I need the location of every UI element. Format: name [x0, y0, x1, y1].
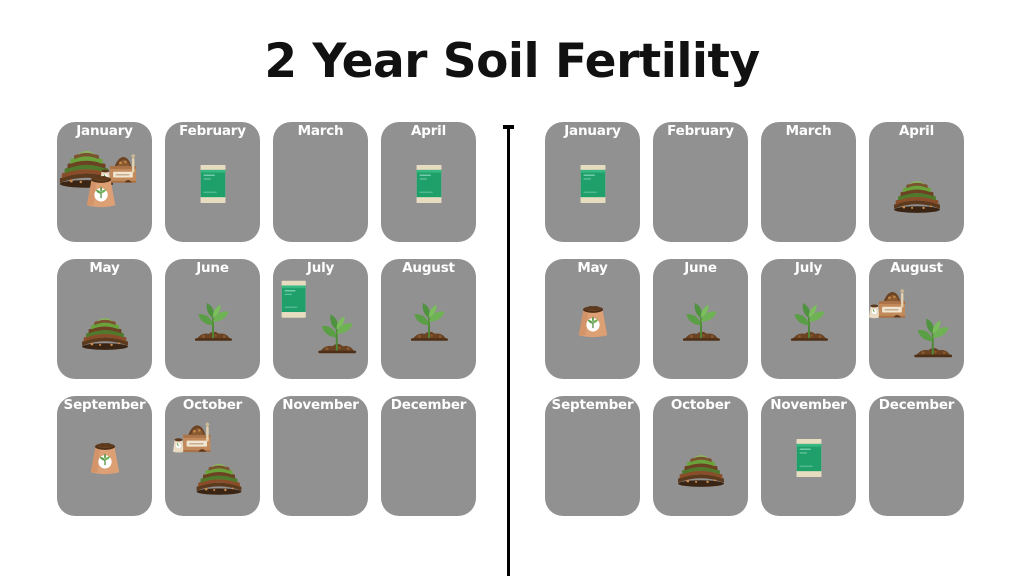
month-label: February [179, 123, 246, 139]
month-card-year-2-may[interactable]: May [545, 259, 640, 379]
month-card-year-1-march[interactable]: March [273, 122, 368, 242]
month-art [545, 396, 640, 516]
month-label: March [298, 123, 344, 139]
month-label: January [564, 123, 621, 139]
seed-packet-icon [413, 163, 443, 205]
seed-packet-icon [577, 163, 607, 205]
soil-bag-icon [83, 172, 119, 210]
seedling-icon [189, 300, 235, 343]
month-art [381, 259, 476, 379]
seed-packet-icon [279, 279, 308, 319]
month-art [273, 396, 368, 516]
month-label: June [196, 260, 229, 276]
month-card-year-1-november[interactable]: November [273, 396, 368, 516]
month-art [273, 122, 368, 242]
month-card-year-2-december[interactable]: December [869, 396, 964, 516]
year-1-panel: JanuaryFebruaryMarchAprilMayJuneJulyAugu… [57, 122, 476, 516]
month-card-year-2-september[interactable]: September [545, 396, 640, 516]
seedling-icon [909, 315, 957, 359]
month-card-year-1-october[interactable]: October [165, 396, 260, 516]
month-card-year-1-june[interactable]: June [165, 259, 260, 379]
month-art [761, 122, 856, 242]
month-label: July [307, 260, 334, 276]
month-label: September [552, 397, 634, 413]
month-card-year-1-july[interactable]: July [273, 259, 368, 379]
month-card-year-1-december[interactable]: December [381, 396, 476, 516]
month-art [545, 259, 640, 379]
month-card-year-2-april[interactable]: April [869, 122, 964, 242]
seed-packet-icon [793, 437, 823, 479]
month-art [273, 259, 368, 379]
year-separator [503, 125, 514, 576]
month-label: July [795, 260, 822, 276]
month-card-year-1-february[interactable]: February [165, 122, 260, 242]
compost-pile-icon [80, 312, 129, 350]
compost-pile-icon [892, 175, 941, 213]
month-label: November [770, 397, 846, 413]
month-card-year-1-may[interactable]: May [57, 259, 152, 379]
month-card-year-1-april[interactable]: April [381, 122, 476, 242]
separator-stem [507, 128, 510, 576]
month-card-year-1-september[interactable]: September [57, 396, 152, 516]
month-art [653, 122, 748, 242]
page-title: 2 Year Soil Fertility [0, 34, 1024, 89]
compost-pile-icon [676, 449, 725, 487]
month-label: April [411, 123, 446, 139]
month-art [165, 396, 260, 516]
month-art [653, 259, 748, 379]
seedling-icon [785, 300, 831, 343]
month-card-year-2-august[interactable]: August [869, 259, 964, 379]
month-art [165, 259, 260, 379]
month-card-year-2-october[interactable]: October [653, 396, 748, 516]
month-label: June [684, 260, 717, 276]
month-label: December [391, 397, 466, 413]
month-label: April [899, 123, 934, 139]
month-label: March [786, 123, 832, 139]
year-1-month-grid: JanuaryFebruaryMarchAprilMayJuneJulyAugu… [57, 122, 476, 516]
month-art [381, 396, 476, 516]
month-card-year-2-july[interactable]: July [761, 259, 856, 379]
month-art [57, 396, 152, 516]
wooden-crate-icon [173, 416, 217, 455]
seedling-icon [405, 300, 451, 343]
month-art [869, 259, 964, 379]
month-label: May [89, 260, 119, 276]
month-art [57, 259, 152, 379]
month-card-year-1-august[interactable]: August [381, 259, 476, 379]
month-art [57, 122, 152, 242]
month-art [653, 396, 748, 516]
month-label: January [76, 123, 133, 139]
month-card-year-2-june[interactable]: June [653, 259, 748, 379]
seedling-icon [677, 300, 723, 343]
month-label: September [64, 397, 146, 413]
month-art [869, 396, 964, 516]
year-2-month-grid: JanuaryFebruaryMarchAprilMayJuneJulyAugu… [545, 122, 964, 516]
month-label: February [667, 123, 734, 139]
month-art [165, 122, 260, 242]
compost-pile-icon [195, 458, 243, 495]
month-card-year-2-november[interactable]: November [761, 396, 856, 516]
month-art [545, 122, 640, 242]
seedling-icon [313, 311, 361, 355]
month-label: October [183, 397, 242, 413]
month-art [761, 396, 856, 516]
seed-packet-icon [197, 163, 227, 205]
month-label: May [577, 260, 607, 276]
month-label: November [282, 397, 358, 413]
month-label: October [671, 397, 730, 413]
month-art [869, 122, 964, 242]
month-art [381, 122, 476, 242]
month-card-year-2-january[interactable]: January [545, 122, 640, 242]
wooden-crate-icon [869, 283, 912, 321]
year-2-panel: JanuaryFebruaryMarchAprilMayJuneJulyAugu… [545, 122, 964, 516]
soil-bag-icon [574, 302, 610, 340]
month-card-year-1-january[interactable]: January [57, 122, 152, 242]
month-label: August [890, 260, 943, 276]
month-label: August [402, 260, 455, 276]
month-card-year-2-march[interactable]: March [761, 122, 856, 242]
soil-bag-icon [86, 439, 122, 477]
month-label: December [879, 397, 954, 413]
month-art [761, 259, 856, 379]
month-card-year-2-february[interactable]: February [653, 122, 748, 242]
